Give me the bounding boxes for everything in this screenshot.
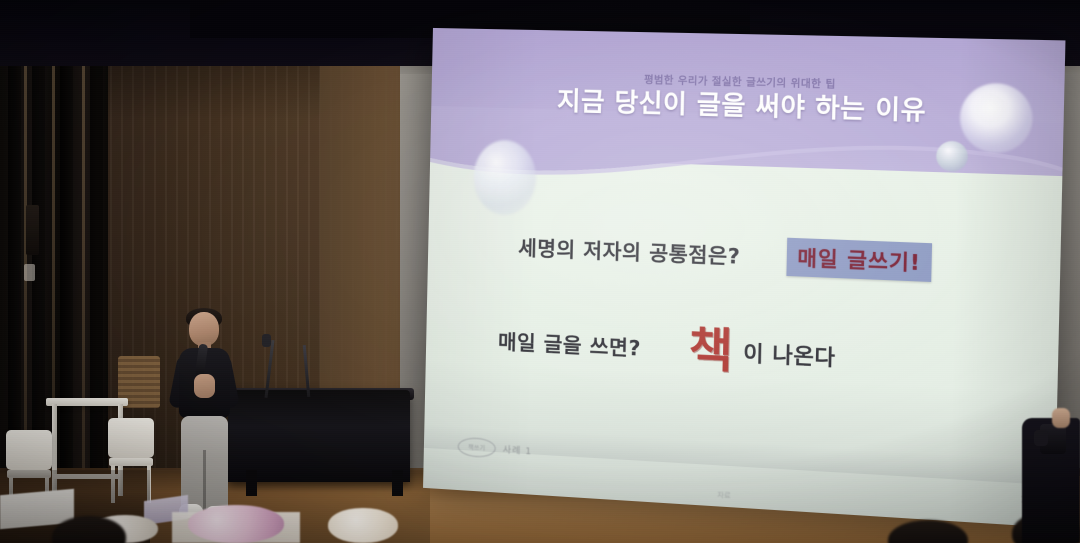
slide-footer-badge: 책쓰기 [458,437,496,458]
grand-piano [228,390,410,482]
slide-footer-label: 사례 1 [503,442,533,457]
microphone-icon [262,334,271,347]
slide-question-2: 매일 글을 쓰면? [498,326,642,362]
slide-tail-text: 이 나온다 [743,337,836,373]
flower-bouquet [188,505,284,543]
camera-lens-icon [1034,430,1048,446]
white-table [46,398,128,406]
wall-outlet-icon [24,264,35,281]
slide-center-mark: 자료 [717,490,731,501]
slide-answer-highlight: 매일 글쓰기! [786,238,932,282]
piano-leg [392,470,403,496]
speaker-head [189,312,219,346]
slide-question-1: 세명의 저자의 공통점은? [518,231,741,269]
lecture-photo: 평범한 우리가 절실한 글쓰기의 위대한 팁 지금 당신이 글을 써야 하는 이… [0,0,1080,543]
slide-emphasis-word: 책 [688,328,733,373]
speaker-hands [194,374,215,398]
projection-screen: 평범한 우리가 절실한 글쓰기의 위대한 팁 지금 당신이 글을 써야 하는 이… [423,28,1065,528]
speaker [168,312,240,527]
camera-operator-hand [1052,408,1070,428]
flower-bouquet [328,508,398,543]
wall-switch-icon [26,205,39,255]
piano-leg [246,470,257,496]
